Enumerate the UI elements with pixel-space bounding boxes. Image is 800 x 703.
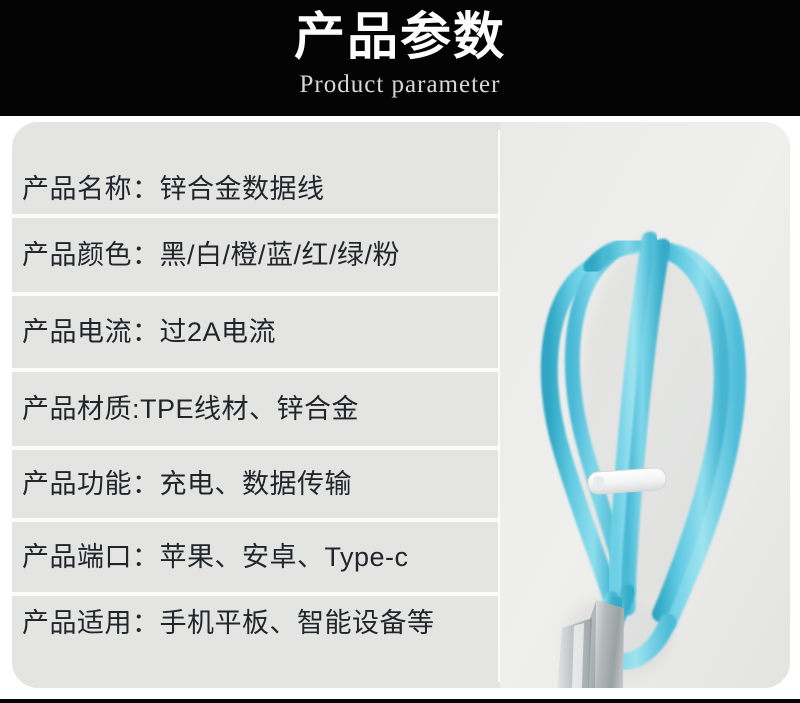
page-header: 产品参数 Product parameter (0, 0, 800, 116)
page-title: 产品参数 (294, 6, 506, 68)
spec-row-text: 产品适用：手机平板、智能设备等 (22, 606, 435, 640)
product-photo (500, 122, 790, 688)
bottom-strip (0, 699, 800, 703)
table-row: 产品材质:TPE线材、锌合金 (12, 372, 500, 450)
spec-row-text: 产品端口：苹果、安卓、Type-c (22, 540, 409, 574)
table-row: 产品端口：苹果、安卓、Type-c (12, 522, 500, 596)
table-row: 产品电流：过2A电流 (12, 296, 500, 372)
table-row: 产品名称：锌合金数据线 (12, 122, 500, 218)
table-row: 产品适用：手机平板、智能设备等 (12, 596, 500, 688)
table-row: 产品颜色：黑/白/橙/蓝/红/绿/粉 (12, 218, 500, 296)
spec-row-text: 产品材质:TPE线材、锌合金 (22, 392, 359, 426)
spec-card: 产品名称：锌合金数据线 产品颜色：黑/白/橙/蓝/红/绿/粉 产品电流：过2A电… (12, 122, 790, 688)
spec-table: 产品名称：锌合金数据线 产品颜色：黑/白/橙/蓝/红/绿/粉 产品电流：过2A电… (12, 122, 500, 688)
spec-row-text: 产品功能：充电、数据传输 (22, 467, 352, 501)
product-parameter-page: 产品参数 Product parameter 产品名称：锌合金数据线 产品颜色：… (0, 0, 800, 703)
spec-row-text: 产品电流：过2A电流 (22, 315, 276, 349)
cable-illustration (500, 122, 790, 688)
spec-row-text: 产品名称：锌合金数据线 (22, 172, 325, 206)
table-row: 产品功能：充电、数据传输 (12, 450, 500, 522)
cable-tie (587, 467, 666, 494)
page-subtitle: Product parameter (300, 69, 501, 101)
spec-row-text: 产品颜色：黑/白/橙/蓝/红/绿/粉 (22, 238, 400, 272)
